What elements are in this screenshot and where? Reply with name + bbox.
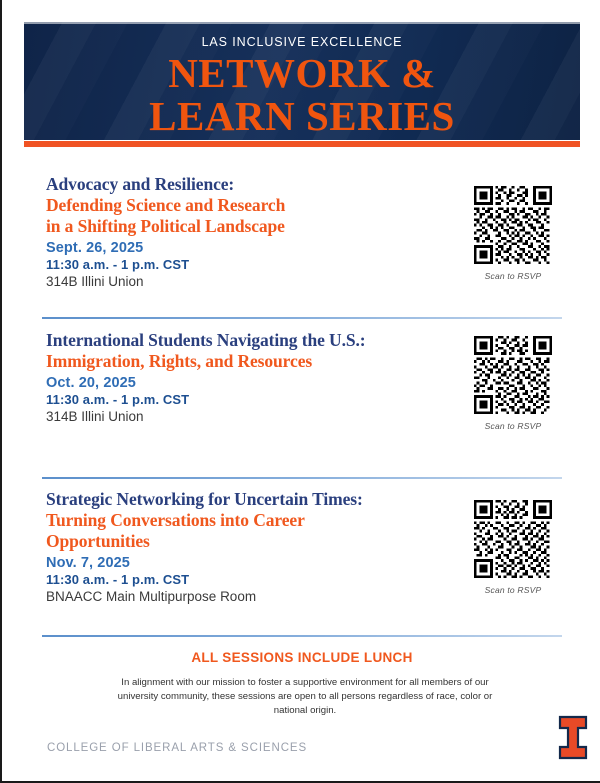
event-block-2: International Students Navigating the U.… <box>46 330 456 424</box>
qr-code-icon[interactable] <box>474 500 552 578</box>
event-title: Advocacy and Resilience: <box>46 174 456 195</box>
banner-accent-bar <box>24 141 580 147</box>
banner-title-line-1: NETWORK & <box>24 52 580 95</box>
qr-code-icon[interactable] <box>474 336 552 414</box>
flyer-page: LAS INCLUSIVE EXCELLENCE NETWORK & LEARN… <box>0 0 600 783</box>
section-divider-3 <box>42 635 562 637</box>
qr-caption: Scan to RSVP <box>458 421 568 431</box>
banner-top-highlight <box>24 22 580 24</box>
event-title: International Students Navigating the U.… <box>46 330 456 351</box>
mission-statement: In alignment with our mission to foster … <box>110 676 500 718</box>
illinois-block-i-logo <box>558 715 588 760</box>
event-subtitle-line-1: Defending Science and Research <box>46 195 456 216</box>
event-location: 314B Illini Union <box>46 274 456 289</box>
event-subtitle-line-2: in a Shifting Political Landscape <box>46 216 456 237</box>
event-date: Sept. 26, 2025 <box>46 240 456 256</box>
qr-caption: Scan to RSVP <box>458 585 568 595</box>
event-location: 314B Illini Union <box>46 409 456 424</box>
qr-block-1[interactable]: Scan to RSVP <box>458 186 568 281</box>
header-banner: LAS INCLUSIVE EXCELLENCE NETWORK & LEARN… <box>24 22 580 147</box>
qr-code-icon[interactable] <box>474 186 552 264</box>
event-time: 11:30 a.m. - 1 p.m. CST <box>46 392 456 407</box>
event-subtitle-line-1: Immigration, Rights, and Resources <box>46 351 456 372</box>
banner-title-line-2: LEARN SERIES <box>24 95 580 138</box>
banner-background: LAS INCLUSIVE EXCELLENCE NETWORK & LEARN… <box>24 22 580 140</box>
qr-block-2[interactable]: Scan to RSVP <box>458 336 568 431</box>
event-title: Strategic Networking for Uncertain Times… <box>46 489 456 510</box>
banner-eyebrow: LAS INCLUSIVE EXCELLENCE <box>24 35 580 49</box>
banner-title: NETWORK & LEARN SERIES <box>24 52 580 138</box>
event-location: BNAACC Main Multipurpose Room <box>46 589 456 604</box>
lunch-note: ALL SESSIONS INCLUDE LUNCH <box>2 650 600 665</box>
event-subtitle-line-1: Turning Conversations into Career <box>46 510 456 531</box>
event-date: Oct. 20, 2025 <box>46 375 456 391</box>
event-block-1: Advocacy and Resilience: Defending Scien… <box>46 174 456 289</box>
college-name: COLLEGE OF LIBERAL ARTS & SCIENCES <box>47 742 307 754</box>
event-time: 11:30 a.m. - 1 p.m. CST <box>46 572 456 587</box>
section-divider-1 <box>42 317 562 319</box>
qr-block-3[interactable]: Scan to RSVP <box>458 500 568 595</box>
section-divider-2 <box>42 477 562 479</box>
event-subtitle-line-2: Opportunities <box>46 531 456 552</box>
event-block-3: Strategic Networking for Uncertain Times… <box>46 489 456 604</box>
qr-caption: Scan to RSVP <box>458 271 568 281</box>
event-date: Nov. 7, 2025 <box>46 555 456 571</box>
event-time: 11:30 a.m. - 1 p.m. CST <box>46 257 456 272</box>
